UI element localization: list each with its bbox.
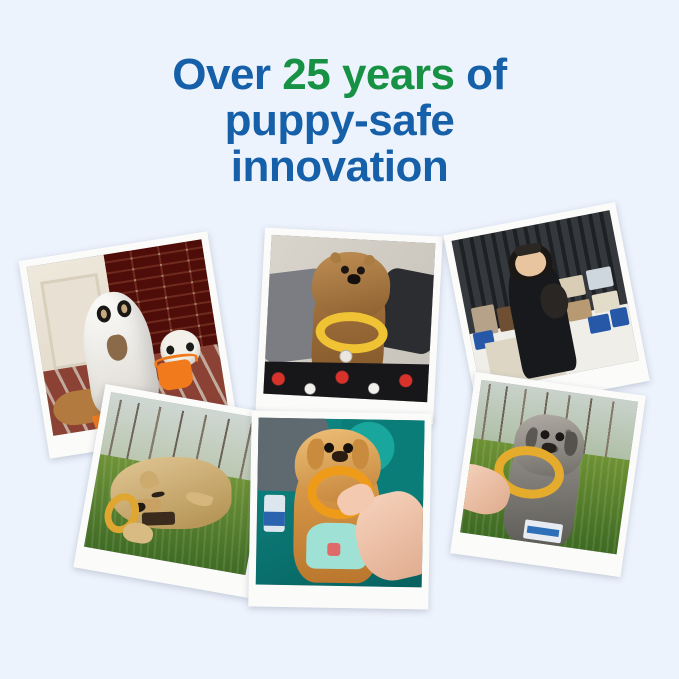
headline-text-of: of	[454, 50, 506, 99]
headline-line-3: innovation	[0, 144, 679, 190]
photo-woman-market-stall-image	[451, 210, 638, 391]
photo-tan-dog-grass-image	[84, 392, 273, 575]
photo-speckled-dog-ring-image	[460, 380, 638, 554]
photo-spaniel-orange-ring	[248, 410, 431, 609]
photo-spaniel-orange-ring-image	[256, 418, 425, 588]
promo-banner: Over 25 years of puppy-safe innovation	[0, 0, 679, 679]
page-title: Over 25 years of puppy-safe innovation	[0, 52, 679, 189]
headline-accent-years: 25 years	[282, 50, 454, 99]
headline-line-1: Over 25 years of	[0, 52, 679, 98]
headline-text-over: Over	[172, 50, 282, 99]
photo-yorkie-yellow-ring-image	[263, 235, 435, 402]
headline-line-2: puppy-safe	[0, 98, 679, 144]
photo-yorkie-yellow-ring	[255, 227, 443, 424]
photo-speckled-dog-ring	[450, 372, 646, 577]
